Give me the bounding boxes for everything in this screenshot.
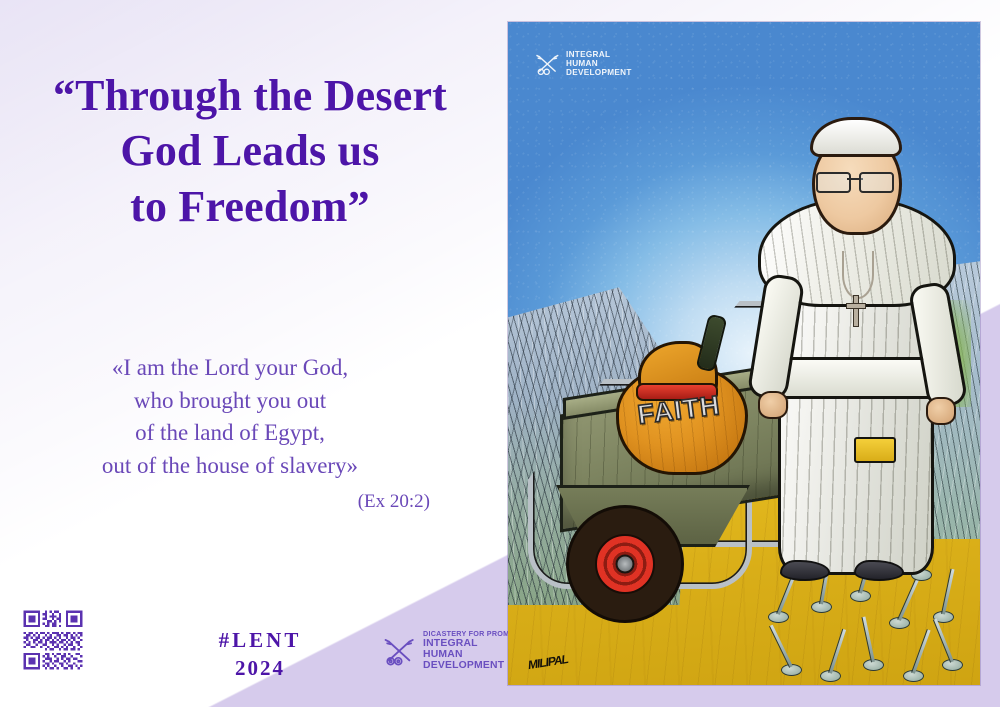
papal-sash [780, 357, 934, 399]
verse-line-4: out of the house of slavery» [0, 450, 460, 483]
eyeglasses-icon [816, 172, 894, 189]
illustration: INTEGRAL HUMAN DEVELOPMENT [508, 22, 980, 685]
left-hand [758, 391, 788, 419]
watermark-text: INTEGRAL HUMAN DEVELOPMENT [566, 50, 632, 77]
wheelbarrow-wheel [566, 505, 684, 623]
headline-line-3: to Freedom” [0, 179, 500, 234]
qr-code-icon [19, 606, 87, 674]
verse-line-2: who brought you out [0, 385, 460, 418]
lens-right [859, 172, 894, 193]
watermark-line-1: INTEGRAL [566, 50, 632, 59]
pectoral-cross-icon [846, 295, 864, 325]
hashtag-label: #LENT [219, 628, 302, 652]
headline-line-1: “Through the Desert [0, 68, 500, 123]
right-hand [926, 397, 956, 425]
scripture-quote: «I am the Lord your God, who brought you… [0, 352, 460, 516]
headline-line-2: God Leads us [0, 123, 500, 178]
crossed-keys-icon [535, 51, 561, 77]
qr-code[interactable] [19, 606, 87, 674]
zucchetto-cap [810, 117, 902, 157]
lens-left [816, 172, 851, 193]
watermark-line-3: DEVELOPMENT [566, 68, 632, 77]
faith-sack: FAITH [616, 343, 742, 475]
pectoral-cross-chain [842, 251, 874, 299]
verse-line-1: «I am the Lord your God, [0, 352, 460, 385]
hashtag-block: #LENT 2024 [150, 626, 370, 683]
wheel-axle [616, 555, 635, 574]
cassock-gold-detail [854, 437, 896, 463]
artwork-watermark: INTEGRAL HUMAN DEVELOPMENT [535, 50, 632, 77]
verse-line-3: of the land of Egypt, [0, 417, 460, 450]
lent-2024-poster: “Through the Desert God Leads us to Free… [0, 0, 1000, 707]
crossed-keys-icon [383, 634, 417, 668]
hashtag-year: 2024 [150, 654, 370, 682]
page-title: “Through the Desert God Leads us to Free… [0, 68, 500, 234]
watermark-line-2: HUMAN [566, 59, 632, 68]
scripture-reference: (Ex 20:2) [0, 489, 460, 516]
pope-francis-figure [750, 105, 964, 575]
